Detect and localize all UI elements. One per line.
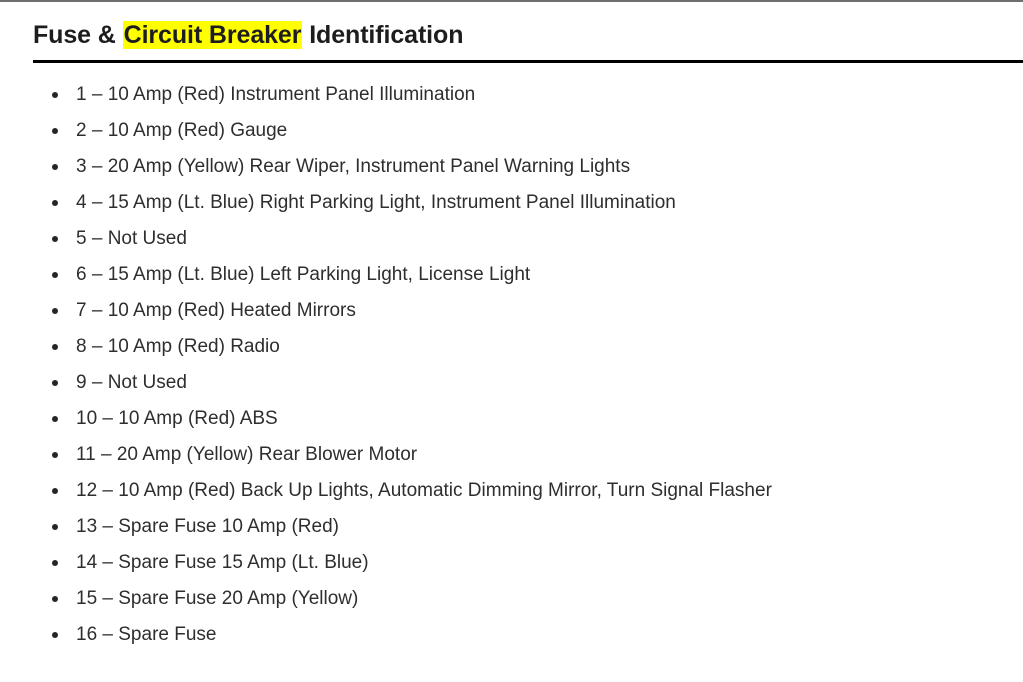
list-item-label: 1 – 10 Amp (Red) Instrument Panel Illumi…: [76, 84, 475, 105]
list-item-label: 11 – 20 Amp (Yellow) Rear Blower Motor: [76, 444, 417, 465]
list-item: 15 – Spare Fuse 20 Amp (Yellow): [0, 581, 1023, 617]
list-item: 5 – Not Used: [0, 221, 1023, 257]
list-item: 7 – 10 Amp (Red) Heated Mirrors: [0, 293, 1023, 329]
bullet-icon: [52, 596, 58, 602]
list-item: 10 – 10 Amp (Red) ABS: [0, 401, 1023, 437]
list-item-label: 14 – Spare Fuse 15 Amp (Lt. Blue): [76, 552, 369, 573]
bullet-icon: [52, 452, 58, 458]
bullet-icon: [52, 308, 58, 314]
heading-block: Fuse & Circuit Breaker Identification: [33, 18, 1023, 52]
bullet-icon: [52, 128, 58, 134]
list-item-label: 15 – Spare Fuse 20 Amp (Yellow): [76, 588, 358, 609]
title-divider-rule: [33, 60, 1023, 63]
list-item-label: 3 – 20 Amp (Yellow) Rear Wiper, Instrume…: [76, 156, 630, 177]
list-item-label: 10 – 10 Amp (Red) ABS: [76, 408, 278, 429]
list-item-label: 2 – 10 Amp (Red) Gauge: [76, 120, 287, 141]
list-item: 8 – 10 Amp (Red) Radio: [0, 329, 1023, 365]
fuse-identification-list: 1 – 10 Amp (Red) Instrument Panel Illumi…: [0, 77, 1023, 653]
bullet-icon: [52, 344, 58, 350]
list-item: 2 – 10 Amp (Red) Gauge: [0, 113, 1023, 149]
page-title-suffix: Identification: [302, 21, 463, 49]
list-item-label: 7 – 10 Amp (Red) Heated Mirrors: [76, 300, 356, 321]
page-title: Fuse & Circuit Breaker Identification: [33, 18, 1023, 52]
list-item-label: 9 – Not Used: [76, 372, 187, 393]
bullet-icon: [52, 380, 58, 386]
list-item: 9 – Not Used: [0, 365, 1023, 401]
document-page: Fuse & Circuit Breaker Identification 1 …: [0, 0, 1023, 682]
list-item: 13 – Spare Fuse 10 Amp (Red): [0, 509, 1023, 545]
bullet-icon: [52, 272, 58, 278]
list-item-label: 13 – Spare Fuse 10 Amp (Red): [76, 516, 339, 537]
list-item-label: 8 – 10 Amp (Red) Radio: [76, 336, 280, 357]
bullet-icon: [52, 524, 58, 530]
list-item-label: 12 – 10 Amp (Red) Back Up Lights, Automa…: [76, 480, 772, 501]
bullet-icon: [52, 632, 58, 638]
page-title-highlighted-text: Circuit Breaker: [123, 21, 303, 49]
list-item: 11 – 20 Amp (Yellow) Rear Blower Motor: [0, 437, 1023, 473]
list-item-label: 5 – Not Used: [76, 228, 187, 249]
list-item-label: 6 – 15 Amp (Lt. Blue) Left Parking Light…: [76, 264, 530, 285]
list-item-label: 4 – 15 Amp (Lt. Blue) Right Parking Ligh…: [76, 192, 676, 213]
bullet-icon: [52, 416, 58, 422]
bullet-icon: [52, 560, 58, 566]
bullet-icon: [52, 488, 58, 494]
bullet-icon: [52, 164, 58, 170]
list-item: 16 – Spare Fuse: [0, 617, 1023, 653]
list-item: 4 – 15 Amp (Lt. Blue) Right Parking Ligh…: [0, 185, 1023, 221]
list-item: 1 – 10 Amp (Red) Instrument Panel Illumi…: [0, 77, 1023, 113]
bullet-icon: [52, 200, 58, 206]
list-item: 6 – 15 Amp (Lt. Blue) Left Parking Light…: [0, 257, 1023, 293]
list-item: 3 – 20 Amp (Yellow) Rear Wiper, Instrume…: [0, 149, 1023, 185]
bullet-icon: [52, 92, 58, 98]
bullet-icon: [52, 236, 58, 242]
page-title-prefix: Fuse &: [33, 21, 123, 49]
list-item: 12 – 10 Amp (Red) Back Up Lights, Automa…: [0, 473, 1023, 509]
list-item-label: 16 – Spare Fuse: [76, 624, 216, 645]
list-item: 14 – Spare Fuse 15 Amp (Lt. Blue): [0, 545, 1023, 581]
